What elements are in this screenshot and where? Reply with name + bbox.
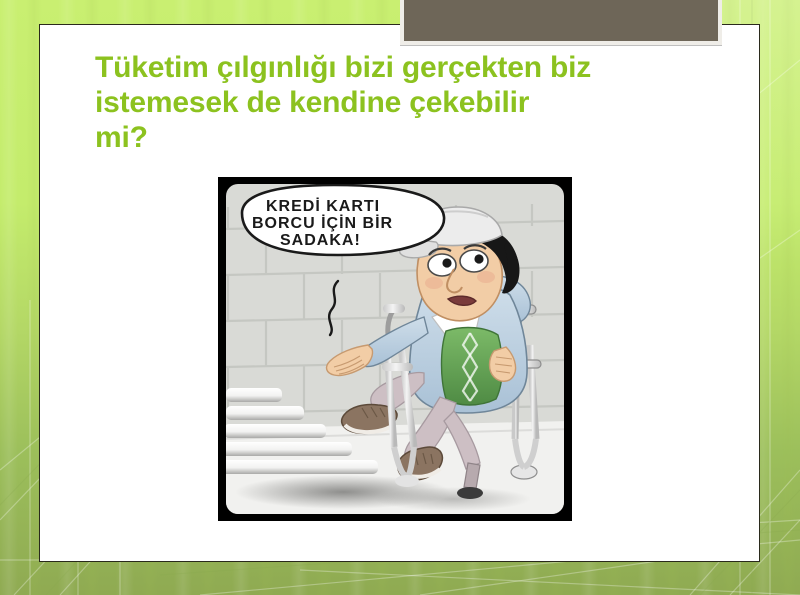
page-title: Tüketim çılgınlığı bizi gerçekten biz is… [95, 50, 735, 155]
eye-right [460, 250, 488, 272]
floor-shadow-2 [375, 487, 531, 511]
cartoon-image: KREDİ KARTI BORCU İÇİN BİR SADAKA! [218, 177, 572, 521]
speech-line-2: BORCU İÇİN BİR [252, 214, 393, 232]
step-1 [226, 388, 282, 402]
pupil-left [442, 258, 451, 267]
slide-canvas: Tüketim çılgınlığı bizi gerçekten biz is… [0, 0, 800, 595]
title-line-1: Tüketim çılgınlığı bizi gerçekten biz [95, 50, 735, 85]
step-3 [224, 424, 326, 438]
pupil-right [474, 254, 483, 263]
speech-line-1: KREDİ KARTI [266, 197, 380, 215]
step-2 [226, 406, 304, 420]
title-line-2: istemesek de kendine çekebilir [95, 85, 735, 120]
cheek-left [425, 277, 443, 289]
foot-stump [457, 487, 483, 499]
cheek-right [477, 271, 495, 283]
top-gray-banner [400, 0, 722, 45]
step-4 [222, 442, 352, 456]
speech-line-3: SADAKA! [280, 232, 361, 249]
title-line-3: mi? [95, 120, 735, 155]
step-5 [220, 460, 378, 474]
cartoon-scene: KREDİ KARTI BORCU İÇİN BİR SADAKA! [218, 177, 572, 521]
